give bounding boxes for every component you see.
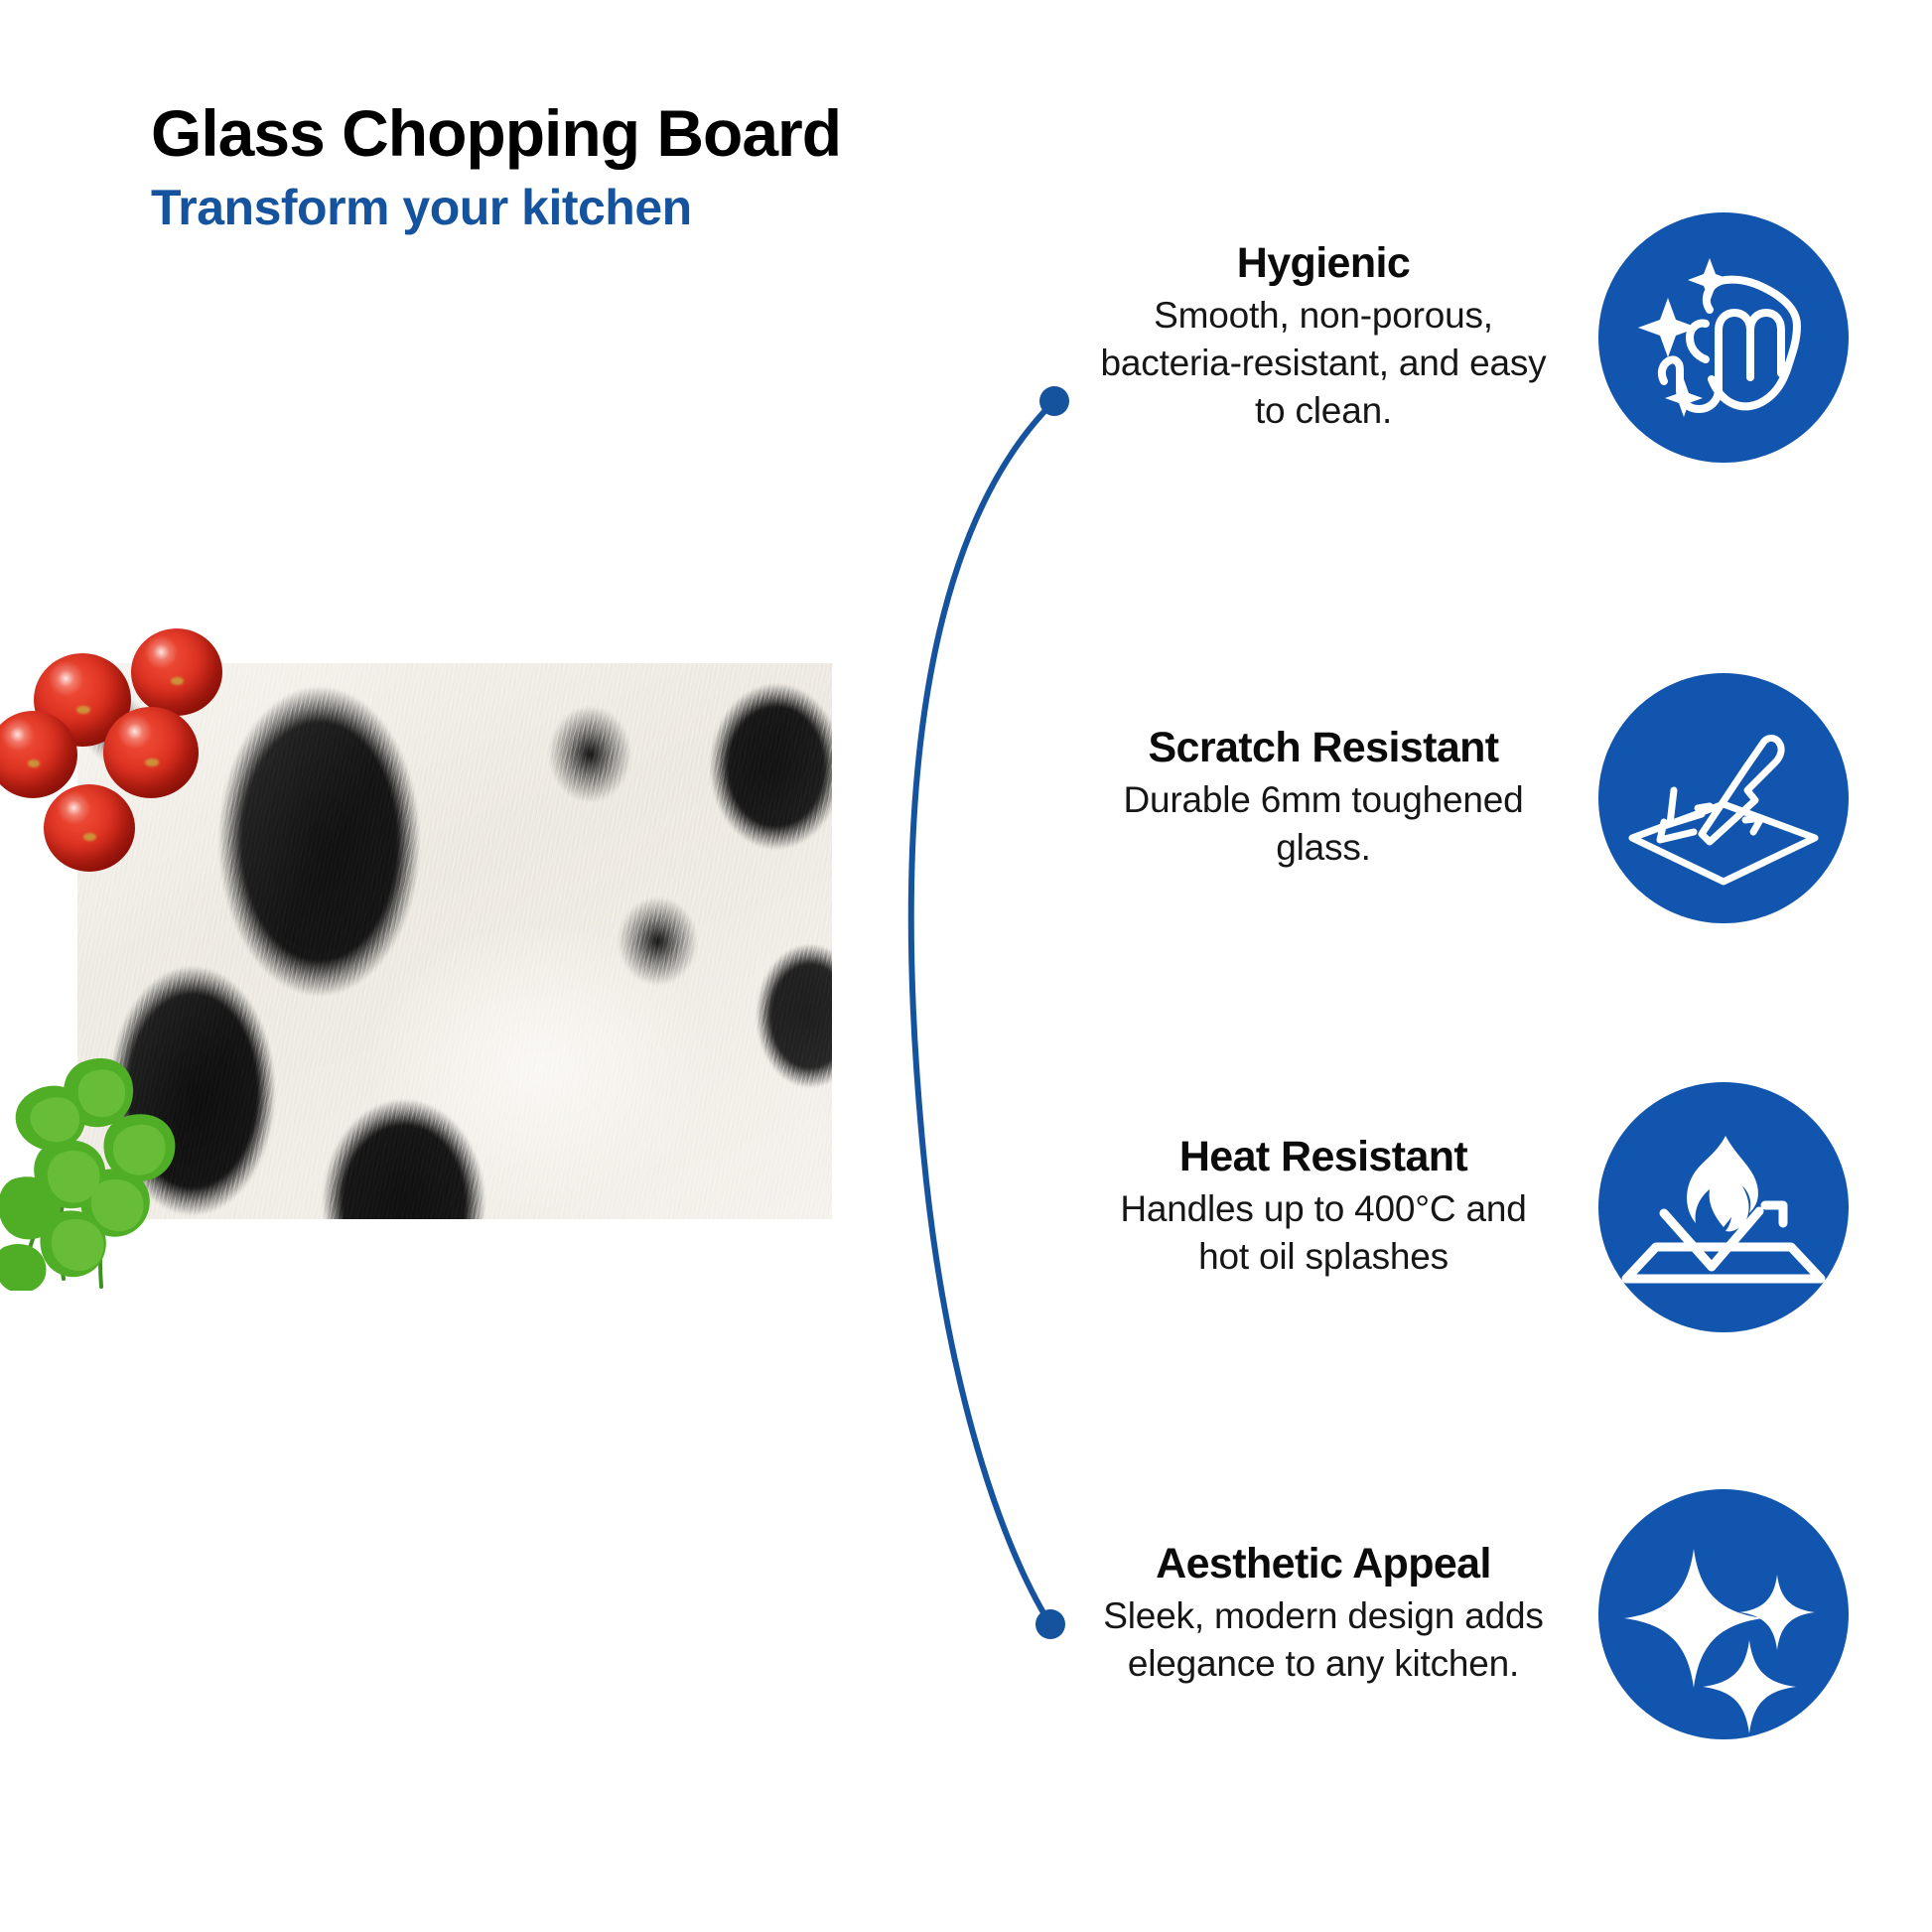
sparkles-icon — [1598, 1489, 1849, 1739]
feature-description: Smooth, non-porous, bacteria-resistant, … — [1090, 292, 1557, 435]
feature-description: Sleek, modern design adds elegance to an… — [1090, 1592, 1557, 1688]
cherry-tomato — [103, 707, 199, 798]
parsley-sprig — [0, 1023, 242, 1291]
feature-title: Aesthetic Appeal — [1090, 1541, 1557, 1587]
feature-text: Aesthetic Appeal Sleek, modern design ad… — [1090, 1541, 1557, 1689]
feature-description: Handles up to 400°C and hot oil splashes — [1090, 1185, 1557, 1281]
feature-title: Scratch Resistant — [1090, 725, 1557, 770]
page-title: Glass Chopping Board — [151, 99, 841, 168]
feature-scratch-resistant: Scratch Resistant Durable 6mm toughened … — [1090, 673, 1849, 923]
connector-dot-top — [1039, 386, 1069, 416]
feature-title: Heat Resistant — [1090, 1134, 1557, 1179]
feature-text: Scratch Resistant Durable 6mm toughened … — [1090, 725, 1557, 873]
header: Glass Chopping Board Transform your kitc… — [151, 99, 841, 234]
feature-hygienic: Hygienic Smooth, non-porous, bacteria-re… — [1090, 212, 1849, 463]
knife-impact-surface-icon — [1598, 673, 1849, 923]
infographic-canvas: Glass Chopping Board Transform your kitc… — [0, 0, 1932, 1932]
flame-heat-deflect-icon — [1598, 1082, 1849, 1332]
page-subtitle: Transform your kitchen — [151, 182, 841, 234]
cherry-tomato — [131, 628, 222, 716]
feature-description: Durable 6mm toughened glass. — [1090, 776, 1557, 872]
feature-heat-resistant: Heat Resistant Handles up to 400°C and h… — [1090, 1082, 1849, 1332]
feature-aesthetic-appeal: Aesthetic Appeal Sleek, modern design ad… — [1090, 1489, 1849, 1739]
connector-dot-bottom — [1035, 1609, 1065, 1639]
feature-title: Hygienic — [1090, 240, 1557, 286]
feature-text: Hygienic Smooth, non-porous, bacteria-re… — [1090, 240, 1557, 436]
feature-text: Heat Resistant Handles up to 400°C and h… — [1090, 1134, 1557, 1282]
hand-wipe-sparkle-icon — [1598, 212, 1849, 463]
cherry-tomato — [44, 784, 135, 872]
